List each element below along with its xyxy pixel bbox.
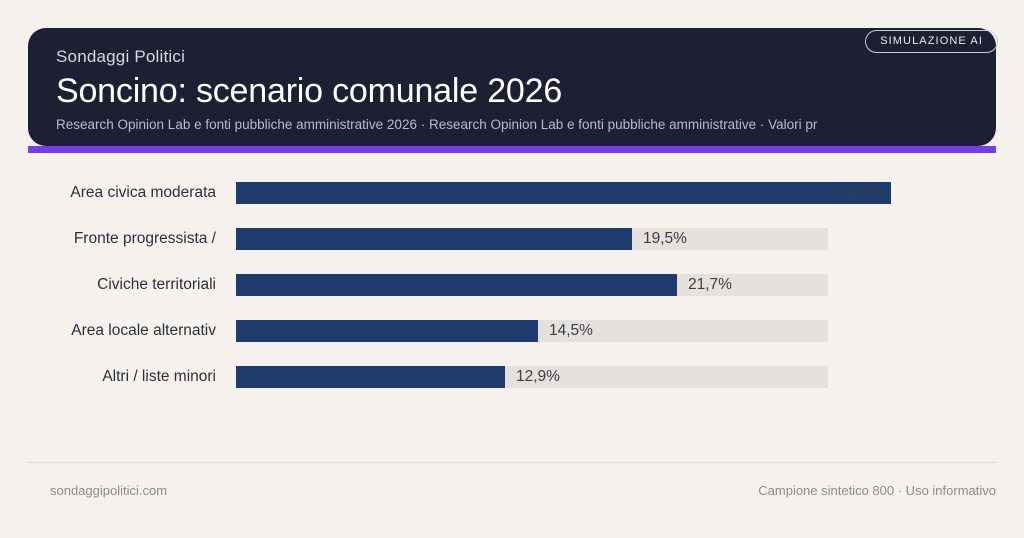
header: Sondaggi Politici Soncino: scenario comu…: [28, 28, 996, 152]
bar-label: Area civica moderata: [28, 170, 216, 216]
bar-value: 12,9%: [516, 366, 560, 388]
bar-label: Altri / liste minori: [28, 354, 216, 400]
header-card: Sondaggi Politici Soncino: scenario comu…: [28, 28, 996, 146]
bar-track: [236, 320, 828, 342]
footer-site-name: sondaggipolitici.com: [50, 483, 167, 498]
brand-kicker: Sondaggi Politici: [56, 48, 996, 67]
bar-fill: [236, 320, 538, 342]
bar-fill: [236, 182, 891, 204]
header-text-block: Sondaggi Politici Soncino: scenario comu…: [56, 48, 996, 133]
bar-track: [236, 228, 828, 250]
bar-fill: [236, 366, 505, 388]
table-row: Area locale alternativ 14,5%: [28, 308, 996, 354]
bar-value: 31,4%: [838, 182, 882, 204]
bar-label: Area locale alternativ: [28, 308, 216, 354]
bar-chart: Area civica moderata 31,4% Fronte progre…: [28, 170, 996, 410]
bar-value: 21,7%: [688, 274, 732, 296]
status-badge: SIMULAZIONE AI: [865, 30, 998, 53]
table-row: Altri / liste minori 12,9%: [28, 354, 996, 400]
table-row: Area civica moderata 31,4%: [28, 170, 996, 216]
bar-fill: [236, 274, 677, 296]
bar-label: Fronte progressista /: [28, 216, 216, 262]
table-row: Fronte progressista / 19,5%: [28, 216, 996, 262]
accent-bar: [28, 146, 996, 153]
bar-track: [236, 182, 828, 204]
poll-infographic: Sondaggi Politici Soncino: scenario comu…: [0, 0, 1024, 538]
page-title: Soncino: scenario comunale 2026: [56, 71, 996, 111]
source-subtitle: Research Opinion Lab e fonti pubbliche a…: [56, 117, 996, 133]
bar-value: 19,5%: [643, 228, 687, 250]
footer: sondaggipolitici.com Campione sintetico …: [28, 462, 996, 511]
bar-label: Civiche territoriali: [28, 262, 216, 308]
bar-track: [236, 274, 828, 296]
bar-fill: [236, 228, 632, 250]
bar-value: 14,5%: [549, 320, 593, 342]
table-row: Civiche territoriali 21,7%: [28, 262, 996, 308]
footer-note: Campione sintetico 800 · Uso informativo: [758, 483, 996, 498]
